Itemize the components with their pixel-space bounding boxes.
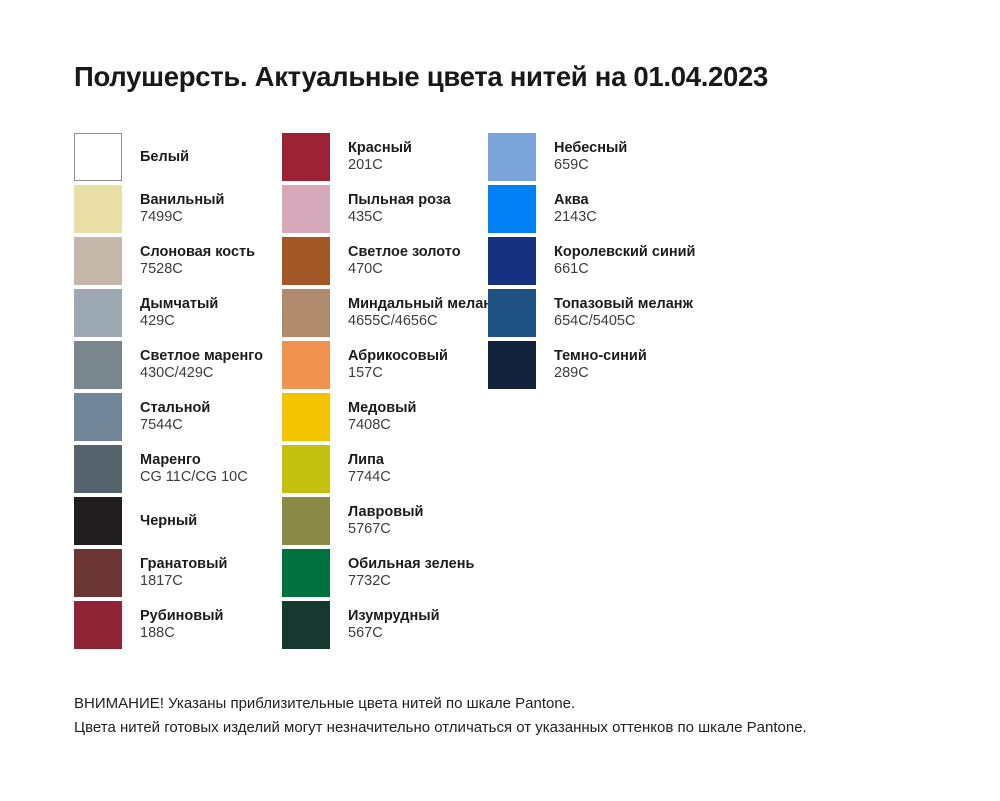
page-title: Полушерсть. Актуальные цвета нитей на 01… (74, 61, 768, 93)
color-swatch-row: Ванильный7499C (74, 185, 282, 237)
color-name: Гранатовый (140, 556, 227, 573)
color-pantone-code: CG 11C/CG 10C (140, 469, 248, 486)
color-swatch-row: Лавровый5767C (282, 497, 488, 549)
color-pantone-code: 470C (348, 261, 461, 278)
color-name: Королевский синий (554, 244, 695, 261)
color-label-block: Рубиновый188C (140, 601, 223, 649)
color-swatch (282, 237, 330, 285)
color-chart-page: Полушерсть. Актуальные цвета нитей на 01… (0, 0, 1000, 801)
disclaimer-line-2: Цвета нитей готовых изделий могут незнач… (74, 716, 807, 740)
color-swatch (74, 497, 122, 545)
color-swatch-row: Топазовый меланж654C/5405C (488, 289, 868, 341)
color-swatch (282, 393, 330, 441)
color-swatch (282, 549, 330, 597)
color-pantone-code: 7732C (348, 573, 474, 590)
color-pantone-code: 661C (554, 261, 695, 278)
color-name: Обильная зелень (348, 556, 474, 573)
color-label-block: Темно-синий289C (554, 341, 647, 389)
color-label-block: Слоновая кость7528C (140, 237, 255, 285)
disclaimer: ВНИМАНИЕ! Указаны приблизительные цвета … (74, 692, 807, 741)
color-pantone-code: 429C (140, 313, 218, 330)
color-name: Ванильный (140, 192, 224, 209)
color-name: Красный (348, 140, 412, 157)
disclaimer-line-1: ВНИМАНИЕ! Указаны приблизительные цвета … (74, 692, 807, 716)
color-pantone-code: 435C (348, 209, 451, 226)
color-name: Небесный (554, 140, 627, 157)
color-name: Светлое маренго (140, 348, 263, 365)
color-swatch-row: Королевский синий661C (488, 237, 868, 289)
color-swatch (282, 341, 330, 389)
color-label-block: Абрикосовый157C (348, 341, 448, 389)
color-name: Черный (140, 513, 197, 530)
color-label-block: Медовый7408C (348, 393, 416, 441)
color-name: Маренго (140, 452, 248, 469)
color-swatch (488, 185, 536, 233)
color-pantone-code: 430C/429C (140, 365, 263, 382)
color-swatch (74, 289, 122, 337)
color-swatch (74, 237, 122, 285)
color-pantone-code: 567C (348, 625, 440, 642)
color-swatch (282, 601, 330, 649)
color-label-block: Ванильный7499C (140, 185, 224, 233)
color-name: Рубиновый (140, 608, 223, 625)
color-pantone-code: 201C (348, 157, 412, 174)
color-pantone-code: 7544C (140, 417, 210, 434)
color-swatch-row: Изумрудный567C (282, 601, 488, 653)
color-name: Слоновая кость (140, 244, 255, 261)
color-swatch (488, 133, 536, 181)
color-swatch-row: Обильная зелень7732C (282, 549, 488, 601)
color-swatch-row: Рубиновый188C (74, 601, 282, 653)
color-pantone-code: 7528C (140, 261, 255, 278)
color-swatch-row: Липа7744C (282, 445, 488, 497)
color-name: Лавровый (348, 504, 423, 521)
color-label-block: Светлое золото470C (348, 237, 461, 285)
color-swatch (74, 601, 122, 649)
color-swatch-row: Стальной7544C (74, 393, 282, 445)
color-label-block: Черный (140, 497, 197, 545)
color-swatch (74, 341, 122, 389)
color-swatch-row: Миндальный меланж4655C/4656C (282, 289, 488, 341)
color-name: Абрикосовый (348, 348, 448, 365)
color-pantone-code: 7408C (348, 417, 416, 434)
color-label-block: Небесный659C (554, 133, 627, 181)
color-name: Светлое золото (348, 244, 461, 261)
color-pantone-code: 7499C (140, 209, 224, 226)
color-swatch (282, 133, 330, 181)
color-swatch-row: Аква2143C (488, 185, 868, 237)
color-swatch-row: Небесный659C (488, 133, 868, 185)
color-swatch-row: Дымчатый429C (74, 289, 282, 341)
color-name: Дымчатый (140, 296, 218, 313)
color-pantone-code: 157C (348, 365, 448, 382)
color-name: Стальной (140, 400, 210, 417)
color-name: Аква (554, 192, 597, 209)
color-label-block: Дымчатый429C (140, 289, 218, 337)
color-name: Темно-синий (554, 348, 647, 365)
color-name: Миндальный меланж (348, 296, 502, 313)
color-pantone-code: 5767C (348, 521, 423, 538)
color-swatch-row: Абрикосовый157C (282, 341, 488, 393)
color-swatch-row: Светлое маренго430C/429C (74, 341, 282, 393)
color-name: Белый (140, 149, 189, 166)
color-swatch (74, 185, 122, 233)
color-swatch-row: Медовый7408C (282, 393, 488, 445)
color-swatch-row: Белый (74, 133, 282, 185)
color-swatch (74, 133, 122, 181)
color-swatch (74, 549, 122, 597)
color-swatch (74, 445, 122, 493)
color-swatch-row: МаренгоCG 11C/CG 10C (74, 445, 282, 497)
color-label-block: Королевский синий661C (554, 237, 695, 285)
color-swatch-row: Черный (74, 497, 282, 549)
color-swatch (488, 237, 536, 285)
color-name: Липа (348, 452, 391, 469)
color-label-block: Аква2143C (554, 185, 597, 233)
color-swatch-row: Слоновая кость7528C (74, 237, 282, 289)
color-pantone-code: 289C (554, 365, 647, 382)
color-pantone-code: 2143C (554, 209, 597, 226)
palette-column-3: Небесный659CАква2143CКоролевский синий66… (488, 133, 868, 393)
color-label-block: Миндальный меланж4655C/4656C (348, 289, 502, 337)
color-pantone-code: 7744C (348, 469, 391, 486)
color-swatch (74, 393, 122, 441)
color-name: Топазовый меланж (554, 296, 693, 313)
color-swatch-row: Красный201C (282, 133, 488, 185)
color-label-block: Топазовый меланж654C/5405C (554, 289, 693, 337)
color-label-block: Обильная зелень7732C (348, 549, 474, 597)
color-label-block: Липа7744C (348, 445, 391, 493)
color-pantone-code: 188C (140, 625, 223, 642)
color-name: Медовый (348, 400, 416, 417)
color-name: Пыльная роза (348, 192, 451, 209)
color-label-block: Стальной7544C (140, 393, 210, 441)
color-swatch (282, 185, 330, 233)
color-label-block: Белый (140, 133, 189, 181)
palette-column-2: Красный201CПыльная роза435CСветлое золот… (282, 133, 488, 653)
color-swatch-row: Гранатовый1817C (74, 549, 282, 601)
color-swatch (282, 445, 330, 493)
color-pantone-code: 4655C/4656C (348, 313, 502, 330)
color-pantone-code: 654C/5405C (554, 313, 693, 330)
color-name: Изумрудный (348, 608, 440, 625)
color-label-block: МаренгоCG 11C/CG 10C (140, 445, 248, 493)
color-swatch (488, 289, 536, 337)
color-swatch (282, 289, 330, 337)
color-swatch (488, 341, 536, 389)
color-label-block: Лавровый5767C (348, 497, 423, 545)
color-label-block: Красный201C (348, 133, 412, 181)
color-swatch-row: Пыльная роза435C (282, 185, 488, 237)
color-swatch (282, 497, 330, 545)
color-swatch-row: Светлое золото470C (282, 237, 488, 289)
color-label-block: Светлое маренго430C/429C (140, 341, 263, 389)
palette-column-1: БелыйВанильный7499CСлоновая кость7528CДы… (74, 133, 282, 653)
color-swatch-row: Темно-синий289C (488, 341, 868, 393)
color-pantone-code: 659C (554, 157, 627, 174)
color-pantone-code: 1817C (140, 573, 227, 590)
color-label-block: Изумрудный567C (348, 601, 440, 649)
color-label-block: Гранатовый1817C (140, 549, 227, 597)
color-label-block: Пыльная роза435C (348, 185, 451, 233)
